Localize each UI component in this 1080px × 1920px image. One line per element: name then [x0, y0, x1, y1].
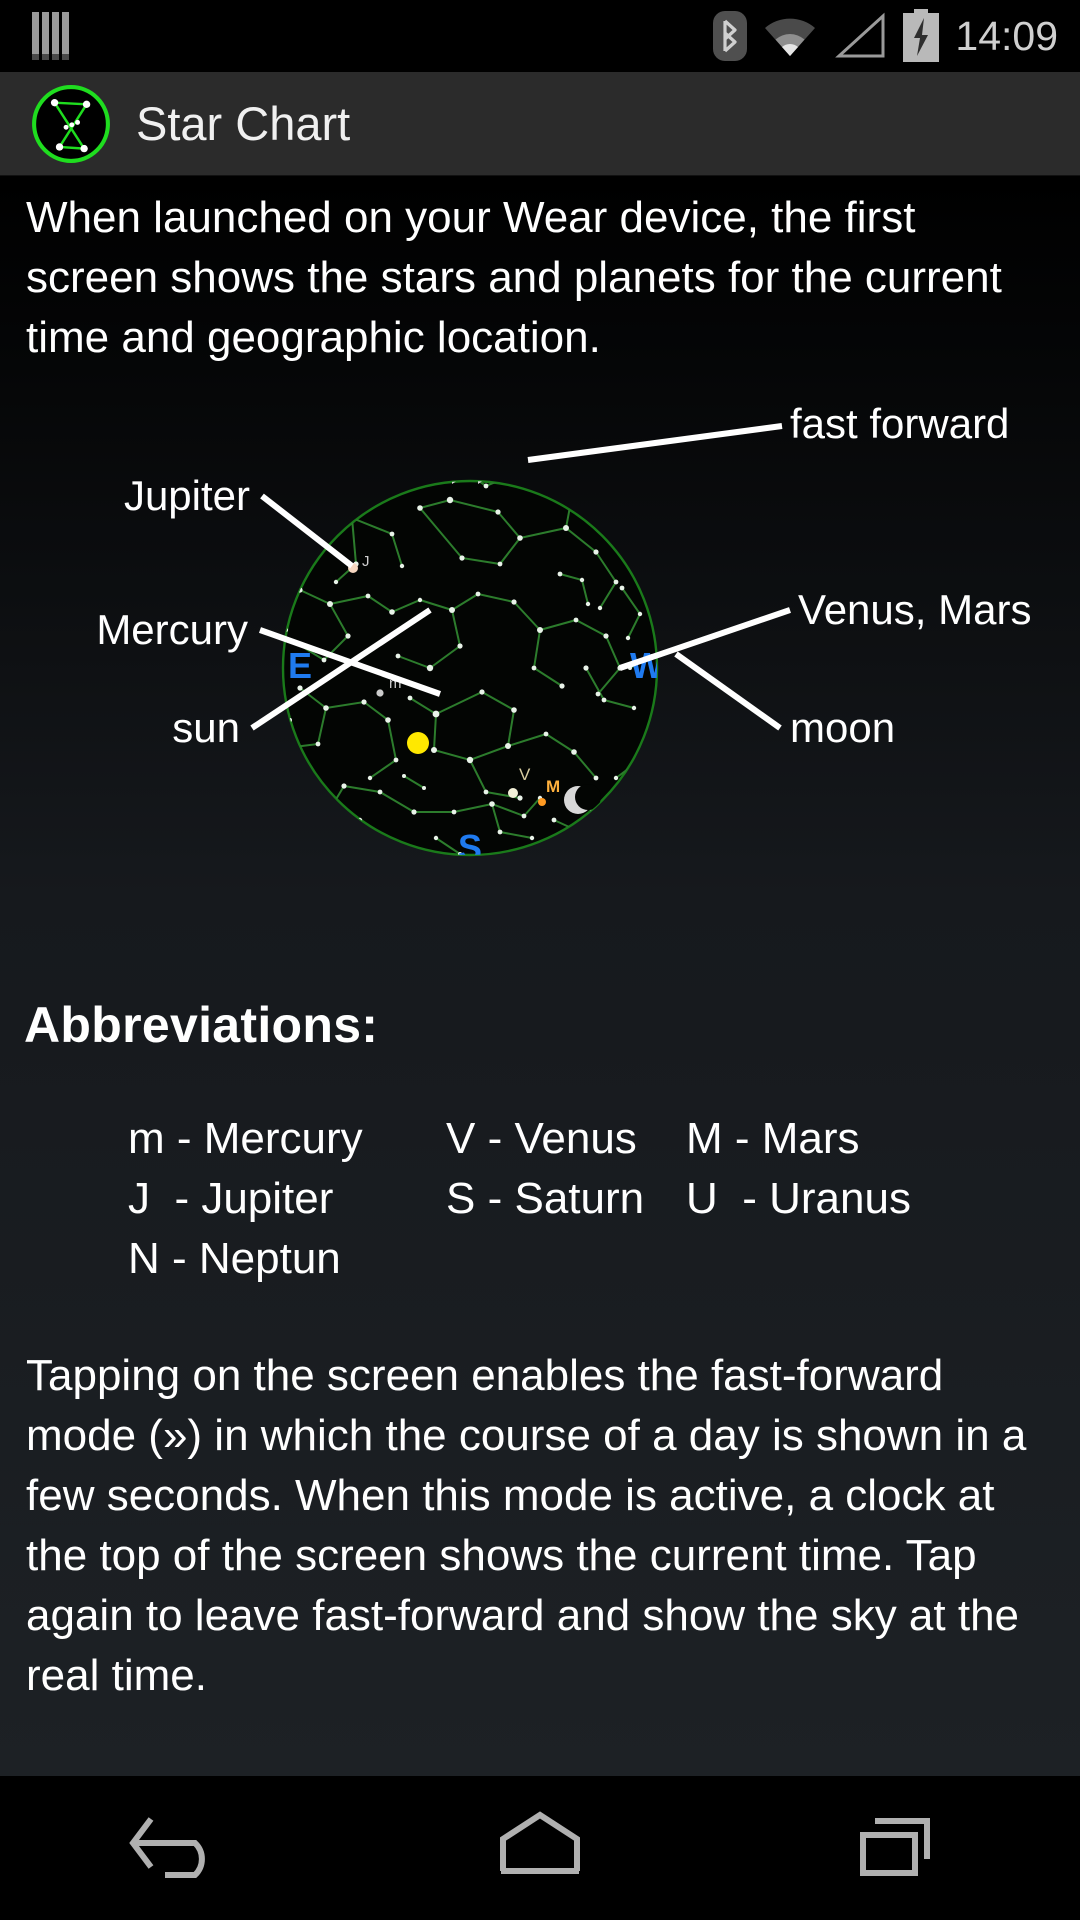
fast-forward-icon [452, 448, 506, 484]
status-bar: 14:09 [0, 0, 1080, 72]
abbrev-name: Saturn [514, 1174, 644, 1223]
status-bar-clock: 14:09 [955, 13, 1058, 60]
abbrev-name: Mercury [204, 1114, 363, 1163]
abbrev-symbol: V [446, 1114, 475, 1163]
callout-sun-label: sun [172, 704, 240, 751]
venus-marker [508, 788, 518, 798]
abbrev-symbol: m [128, 1114, 165, 1163]
abbrev-name: Uranus [769, 1174, 911, 1223]
wifi-icon [761, 12, 819, 60]
compass-east-label: E [288, 645, 312, 686]
callout-venus-mars-label: Venus, Mars [798, 586, 1031, 633]
bookmark-stack-icon [30, 10, 76, 62]
callout-mercury-label: Mercury [96, 606, 248, 653]
bluetooth-icon [713, 11, 747, 61]
abbrev-item-mercury: m - Mercury [128, 1114, 446, 1164]
callout-jupiter-label: Jupiter [124, 472, 250, 519]
mercury-marker [376, 689, 383, 696]
abbrev-spacer-a [446, 1234, 686, 1284]
callout-moon-label: moon [790, 704, 895, 751]
abbrev-item-saturn: S - Saturn [446, 1174, 686, 1224]
abbreviations-grid: m - Mercury V - Venus M - Mars J - Jupit… [0, 1114, 1080, 1284]
abbrev-name: Venus [514, 1114, 636, 1163]
leader-moon [676, 654, 780, 728]
star-chart-figure: J m V M S 10:37 [0, 368, 1080, 988]
jupiter-symbol: J [362, 553, 370, 570]
outro-paragraph: Tapping on the screen enables the fast-f… [0, 1336, 1080, 1706]
watch-clock-label: 10:37 [427, 404, 512, 442]
status-bar-left [30, 10, 76, 62]
abbrev-symbol: N [128, 1234, 160, 1283]
abbrev-spacer-b [686, 1234, 1080, 1284]
mars-symbol: M [546, 777, 560, 796]
abbreviations-heading: Abbreviations: [0, 988, 1080, 1054]
abbrev-item-venus: V - Venus [446, 1114, 686, 1164]
abbrev-symbol: J [128, 1174, 150, 1223]
home-icon [485, 1809, 595, 1887]
saturn-symbol: S [621, 773, 630, 789]
battery-charging-icon [901, 9, 941, 63]
app-title: Star Chart [136, 96, 350, 151]
leader-fast-forward [528, 426, 782, 460]
abbrev-item-neptun: N - Neptun [128, 1234, 446, 1284]
back-arrow-icon [125, 1809, 235, 1887]
home-button[interactable] [440, 1776, 640, 1920]
android-screen: 14:09 Star Chart When [0, 0, 1080, 1920]
abbrev-item-mars: M - Mars [686, 1114, 1080, 1164]
intro-paragraph: When launched on your Wear device, the f… [0, 176, 1080, 368]
status-bar-right: 14:09 [713, 9, 1058, 63]
abbrev-name: Mars [762, 1114, 860, 1163]
abbrev-symbol: M [686, 1114, 723, 1163]
abbrev-name: Neptun [199, 1234, 341, 1283]
abbrev-item-jupiter: J - Jupiter [128, 1174, 446, 1224]
saturn-marker [614, 790, 621, 797]
app-bar: Star Chart [0, 72, 1080, 176]
leader-jupiter [262, 496, 352, 566]
recents-button[interactable] [800, 1776, 1000, 1920]
star-chart-app-icon [30, 83, 112, 165]
sun-marker [407, 732, 429, 754]
navigation-bar [0, 1776, 1080, 1920]
venus-symbol: V [519, 765, 531, 784]
recents-icon [845, 1809, 955, 1887]
abbrev-item-uranus: U - Uranus [686, 1174, 1080, 1224]
mars-marker [538, 798, 546, 806]
content-scroll-area[interactable]: When launched on your Wear device, the f… [0, 176, 1080, 1776]
abbrev-symbol: U [686, 1174, 718, 1223]
cell-signal-icon [833, 12, 887, 60]
callout-fast-forward-label: fast forward [790, 400, 1009, 447]
abbrev-symbol: S [446, 1174, 475, 1223]
compass-south-label: S [458, 827, 482, 868]
back-button[interactable] [80, 1776, 280, 1920]
abbrev-name: Jupiter [201, 1174, 333, 1223]
star-chart-illustration: J m V M S 10:37 [0, 368, 1080, 988]
